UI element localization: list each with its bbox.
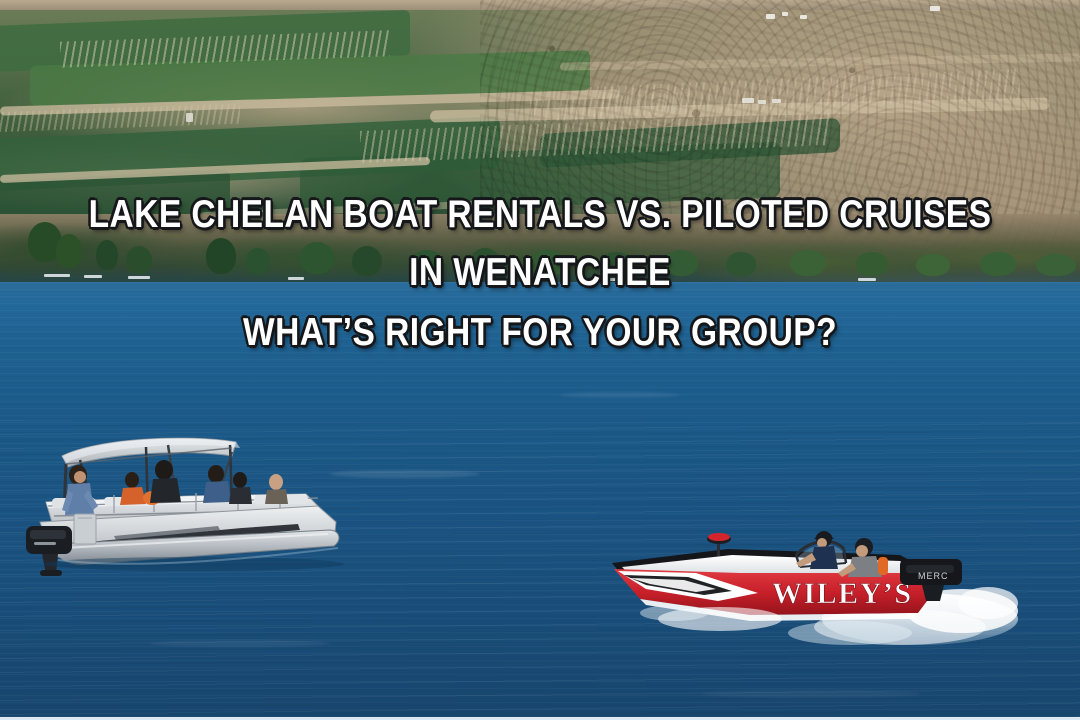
speedboat: WILEY’S: [600, 515, 1010, 665]
shore-tree: [664, 250, 698, 276]
water-glint: [330, 470, 480, 478]
shore-tree: [206, 238, 236, 274]
shore-tree: [246, 248, 270, 274]
water-glint: [700, 690, 920, 698]
shore-tree: [856, 252, 888, 276]
shore-tree: [56, 234, 82, 268]
shore-dock: [418, 277, 438, 280]
farm-building: [782, 12, 788, 16]
passenger-seated-dark: [150, 460, 181, 503]
passenger-standing: [62, 465, 98, 515]
farm-building: [772, 99, 781, 103]
shore-tree: [1036, 254, 1076, 276]
shore-dock: [84, 275, 102, 278]
shore-tree: [410, 250, 444, 276]
shore-tree: [790, 250, 826, 276]
shore-dock: [128, 276, 150, 279]
passenger-seated-dark-2: [229, 472, 252, 504]
water-glint: [560, 392, 680, 398]
shore-dock: [604, 278, 618, 281]
shore-tree: [726, 252, 756, 276]
farm-building: [930, 6, 940, 11]
shore-dock: [44, 274, 70, 277]
outboard-motor: [26, 526, 72, 576]
farm-building: [758, 100, 766, 104]
farm-building: [766, 14, 775, 19]
driver-cap: [814, 533, 834, 540]
shore-dock: [288, 277, 304, 280]
farm-building: [186, 113, 193, 122]
shore-tree: [96, 240, 118, 270]
rear-gate: [74, 514, 96, 544]
shore-dock: [858, 278, 876, 281]
shore-tree: [916, 254, 950, 276]
motor-brand-text: MERC: [918, 571, 949, 581]
shore-tree: [470, 248, 500, 276]
shore-tree: [126, 246, 152, 274]
farm-building: [742, 98, 754, 103]
shore-tree: [600, 252, 632, 276]
shore-tree: [530, 250, 566, 276]
pontoon-boat: [18, 418, 348, 598]
shore-tree: [352, 246, 382, 276]
farm-building: [800, 15, 807, 19]
shore-tree: [980, 252, 1016, 276]
water-glint: [150, 640, 330, 647]
shore-tree: [300, 242, 334, 274]
hero-banner: LAKE CHELAN BOAT RENTALS VS. PILOTED CRU…: [0, 0, 1080, 720]
hull-name-text: WILEY’S: [772, 577, 913, 610]
life-vest: [878, 557, 888, 575]
passenger-seated-tan: [265, 474, 288, 504]
